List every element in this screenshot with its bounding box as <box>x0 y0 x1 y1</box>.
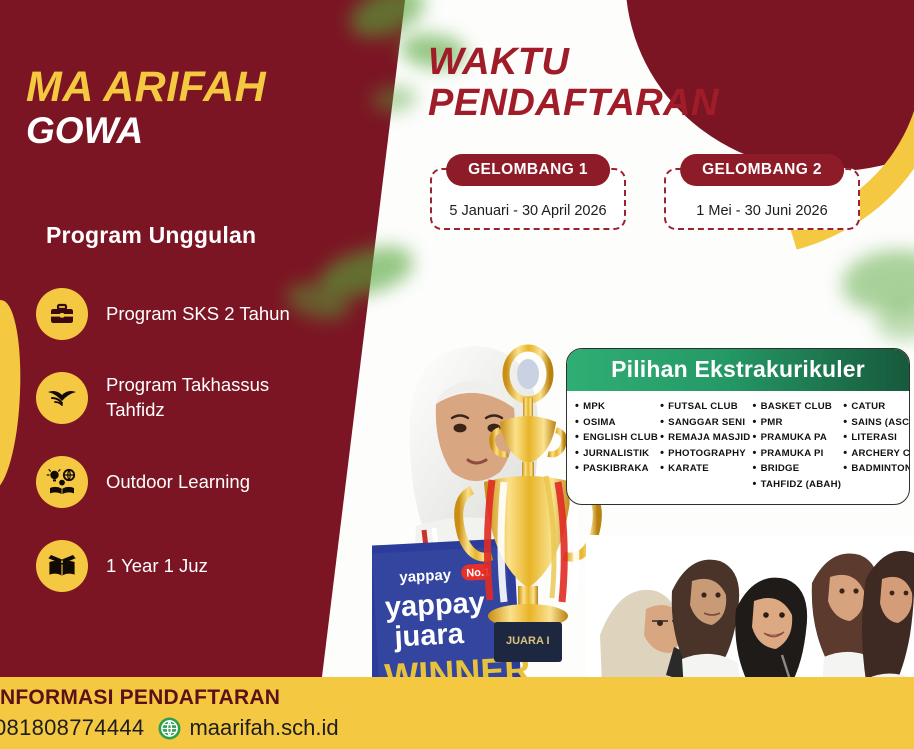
programs-heading: Program Unggulan <box>46 222 256 249</box>
list-item: •PRAMUKA PI <box>753 446 842 462</box>
program-item: Program SKS 2 Tahun <box>36 272 366 356</box>
bullet-icon: • <box>843 430 847 445</box>
footer-bar: INFORMASI PENDAFTARAN 081808774444 maari… <box>0 677 914 749</box>
bullet-icon: • <box>575 399 579 414</box>
list-item: •REMAJA MASJID <box>660 430 750 446</box>
program-item: Program Takhassus Tahfidz <box>36 356 366 440</box>
open-book-icon <box>36 372 88 424</box>
registration-title-line2: PENDAFTARAN <box>428 83 719 124</box>
lightbulb-globe-reader-icon <box>36 456 88 508</box>
brand-location: GOWA <box>26 109 356 153</box>
bullet-icon: • <box>753 415 757 430</box>
wave-2-badge: GELOMBANG 2 <box>680 154 844 186</box>
footer-contact-row: 081808774444 maarifah.sch.id <box>0 715 339 741</box>
list-item: •JURNALISTIK <box>575 446 658 462</box>
list-item: •PASKIBRAKA <box>575 461 658 477</box>
bullet-icon: • <box>575 415 579 430</box>
registration-title: WAKTU PENDAFTARAN <box>428 42 719 124</box>
bullet-icon: • <box>575 430 579 445</box>
briefcase-icon <box>36 288 88 340</box>
list-item: •FUTSAL CLUB <box>660 399 750 415</box>
bullet-icon: • <box>660 461 664 476</box>
registration-title-line1: WAKTU <box>428 42 719 83</box>
svg-text:juara: juara <box>393 618 466 654</box>
footer-title: INFORMASI PENDAFTARAN <box>0 686 280 710</box>
program-item: Outdoor Learning <box>36 440 366 524</box>
bullet-icon: • <box>753 446 757 461</box>
list-item: •SAINS (ASC) <box>843 415 910 431</box>
svg-text:yappay: yappay <box>384 587 485 624</box>
list-item: •BADMINTON <box>843 461 910 477</box>
registration-wave-1: GELOMBANG 1 5 Januari - 30 April 2026 <box>430 168 626 230</box>
list-item: •PHOTOGRAPHY <box>660 446 750 462</box>
list-item: •CATUR <box>843 399 910 415</box>
svg-text:JUARA I: JUARA I <box>506 635 550 647</box>
footer-website[interactable]: maarifah.sch.id <box>158 715 338 741</box>
bullet-icon: • <box>843 461 847 476</box>
list-item: •KARATE <box>660 461 750 477</box>
program-label: Outdoor Learning <box>106 470 250 495</box>
list-item: •ENGLISH CLUB <box>575 430 658 446</box>
extracurricular-column: •MPK •OSIMA •ENGLISH CLUB •JURNALISTIK •… <box>575 399 658 492</box>
bullet-icon: • <box>660 399 664 414</box>
footer-phone[interactable]: 081808774444 <box>0 715 144 741</box>
bullet-icon: • <box>575 461 579 476</box>
extracurricular-column: •CATUR •SAINS (ASC) •LITERASI •ARCHERY C… <box>843 399 910 492</box>
bullet-icon: • <box>753 399 757 414</box>
wave-2-dates: 1 Mei - 30 Juni 2026 <box>696 203 827 219</box>
bullet-icon: • <box>660 430 664 445</box>
list-item: •PRAMUKA PA <box>753 430 842 446</box>
program-label: Program SKS 2 Tahun <box>106 302 290 327</box>
list-item: •SANGGAR SENI <box>660 415 750 431</box>
list-item: •OSIMA <box>575 415 658 431</box>
list-item: •BASKET CLUB <box>753 399 842 415</box>
bullet-icon: • <box>753 430 757 445</box>
footer-website-text: maarifah.sch.id <box>189 715 338 741</box>
wave-1-badge: GELOMBANG 1 <box>446 154 610 186</box>
svg-text:yappay: yappay <box>399 566 452 586</box>
list-item: •BRIDGE <box>753 461 842 477</box>
brand-name: MA ARIFAH <box>26 66 356 109</box>
registration-waves: GELOMBANG 1 5 Januari - 30 April 2026 GE… <box>430 150 882 242</box>
bullet-icon: • <box>843 415 847 430</box>
program-label: 1 Year 1 Juz <box>106 554 208 579</box>
list-item: •PMR <box>753 415 842 431</box>
bullet-icon: • <box>660 446 664 461</box>
bullet-icon: • <box>575 446 579 461</box>
bullet-icon: • <box>660 415 664 430</box>
list-item: •LITERASI <box>843 430 910 446</box>
bullet-icon: • <box>753 461 757 476</box>
poster-root: MA ARIFAH GOWA Program Unggulan Program … <box>0 0 914 749</box>
globe-icon <box>158 717 181 740</box>
extracurricular-card: Pilihan Ekstrakurikuler •MPK •OSIMA •ENG… <box>566 348 910 505</box>
bullet-icon: • <box>843 446 847 461</box>
programs-list: Program SKS 2 Tahun Program Takhassus Ta… <box>36 272 366 608</box>
bullet-icon: • <box>843 399 847 414</box>
quran-icon <box>36 540 88 592</box>
extracurricular-columns: •MPK •OSIMA •ENGLISH CLUB •JURNALISTIK •… <box>567 391 909 504</box>
program-item: 1 Year 1 Juz <box>36 524 366 608</box>
bullet-icon: • <box>753 477 757 492</box>
list-item: •TAHFIDZ (ABAH) <box>753 477 842 493</box>
list-item: •MPK <box>575 399 658 415</box>
list-item: •ARCHERY CLUB <box>843 446 910 462</box>
wave-1-dates: 5 Januari - 30 April 2026 <box>449 203 606 219</box>
extracurricular-column: •FUTSAL CLUB •SANGGAR SENI •REMAJA MASJI… <box>660 399 750 492</box>
extracurricular-column: •BASKET CLUB •PMR •PRAMUKA PA •PRAMUKA P… <box>753 399 842 492</box>
program-label: Program Takhassus Tahfidz <box>106 373 321 423</box>
registration-wave-2: GELOMBANG 2 1 Mei - 30 Juni 2026 <box>664 168 860 230</box>
brand-title: MA ARIFAH GOWA <box>26 66 356 153</box>
extracurricular-title: Pilihan Ekstrakurikuler <box>567 349 909 391</box>
